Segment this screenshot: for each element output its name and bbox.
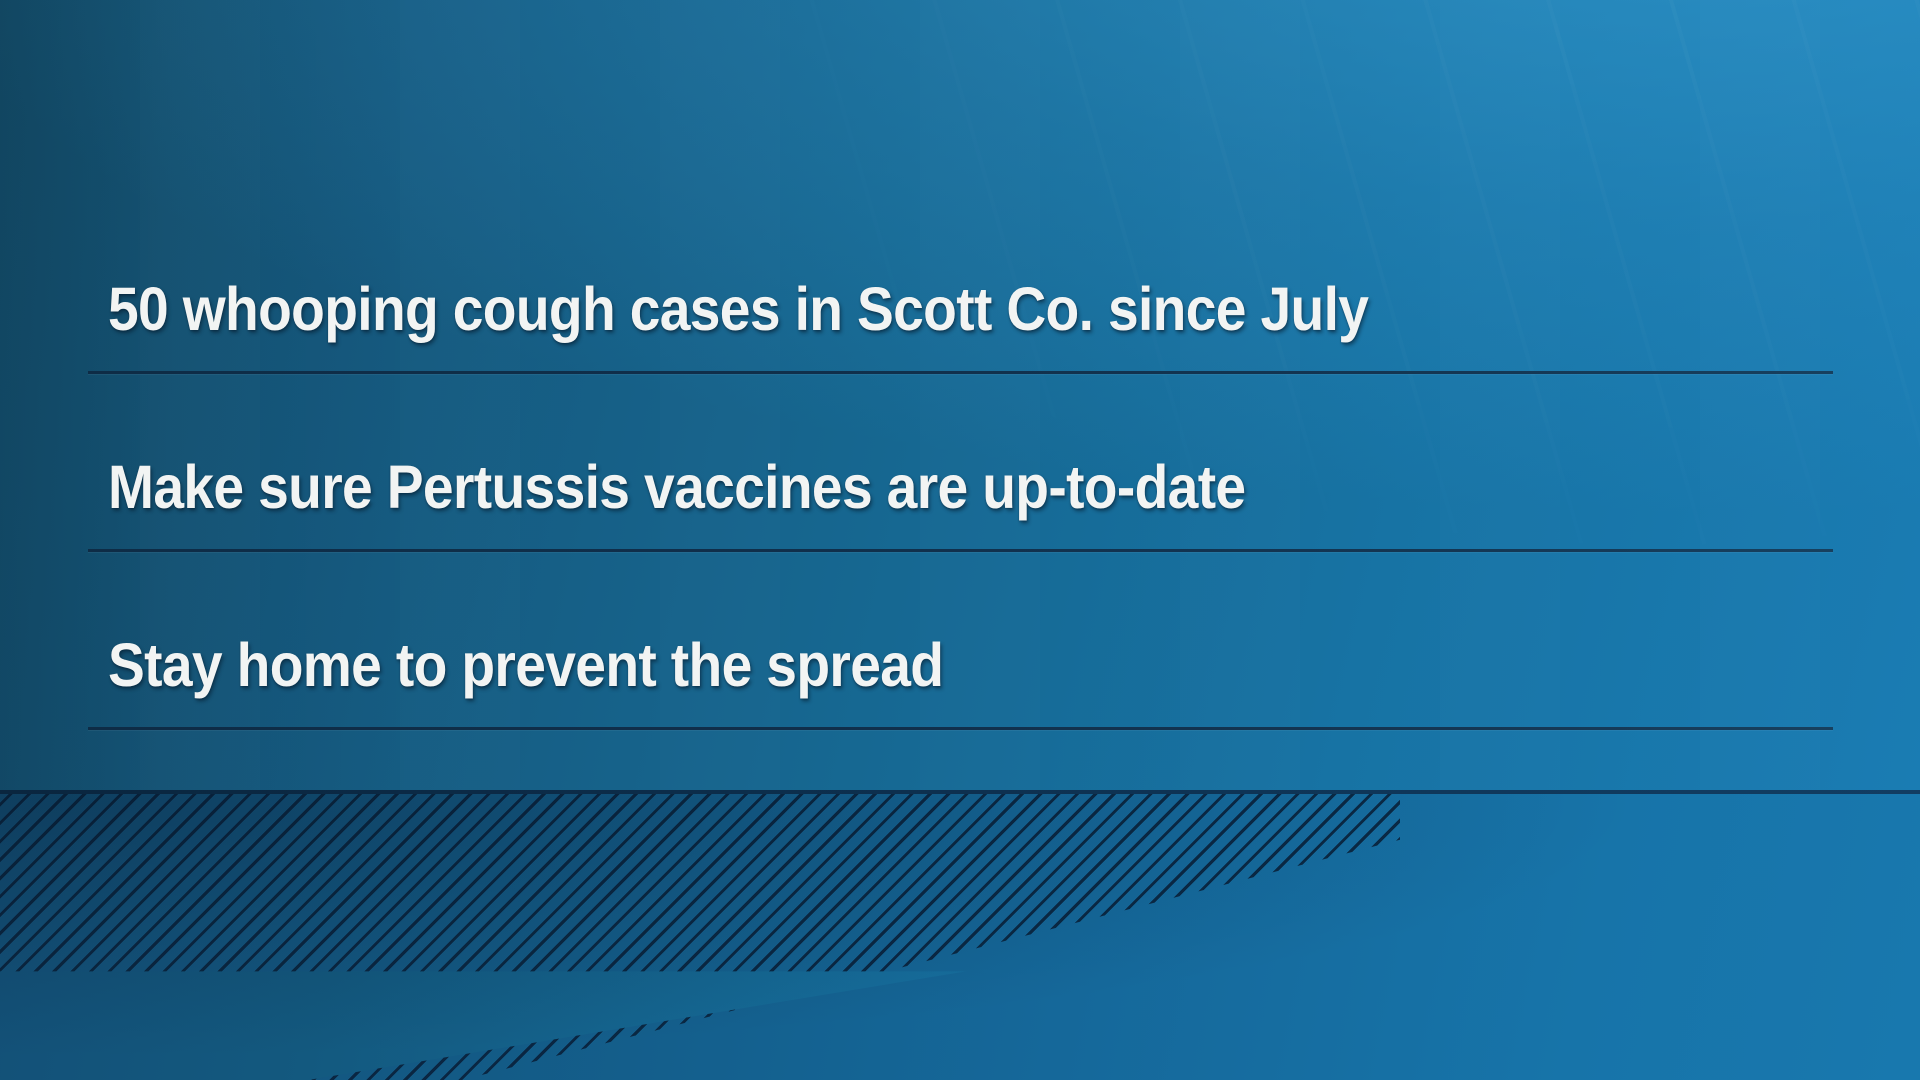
bullet-rule-3 <box>88 727 1833 730</box>
lower-decorative-band <box>0 790 1920 1080</box>
bullet-headline-1: 50 whooping cough cases in Scott Co. sin… <box>108 278 1368 340</box>
bullet-row: Make sure Pertussis vaccines are up-to-d… <box>88 374 1877 552</box>
diagonal-hatch-graphic <box>0 794 1400 1080</box>
broadcast-graphic-stage: 50 whooping cough cases in Scott Co. sin… <box>0 0 1920 1080</box>
bullet-row: 50 whooping cough cases in Scott Co. sin… <box>88 196 1877 374</box>
bullet-list: 50 whooping cough cases in Scott Co. sin… <box>88 196 1877 730</box>
bullet-headline-3: Stay home to prevent the spread <box>108 634 943 696</box>
bullet-headline-2: Make sure Pertussis vaccines are up-to-d… <box>108 456 1245 518</box>
bullet-row: Stay home to prevent the spread <box>88 552 1877 730</box>
band-top-seam <box>0 790 1920 794</box>
